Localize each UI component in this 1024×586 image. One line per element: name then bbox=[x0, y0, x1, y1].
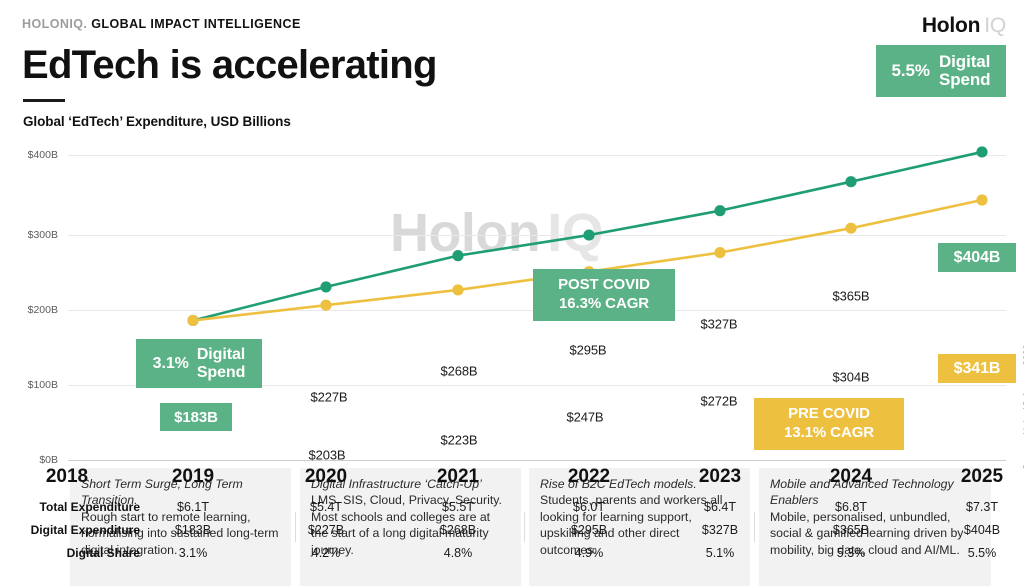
digital-spend-top-label: Digital Spend bbox=[939, 53, 991, 90]
table-year-header-2024: 2024 bbox=[830, 466, 872, 488]
digital-spend-top-label-line2: Spend bbox=[939, 70, 991, 89]
post-covid-line1: POST COVID bbox=[558, 276, 650, 295]
table-year-header-2023: 2023 bbox=[699, 466, 741, 488]
data-point-2022 bbox=[714, 247, 725, 258]
point-label-yellow-2021: $247B bbox=[567, 410, 604, 425]
table-cell: $365B bbox=[833, 523, 869, 537]
end-value-badge-yellow: $341B bbox=[938, 354, 1016, 383]
digital-spend-left-label-line2: Spend bbox=[197, 364, 246, 381]
digital-spend-left-percent: 3.1% bbox=[153, 355, 189, 373]
table-cell: $7.3T bbox=[966, 500, 998, 514]
point-label-green-2023: $365B bbox=[833, 289, 870, 304]
data-point-2022 bbox=[714, 205, 725, 216]
page-title: EdTech is accelerating bbox=[22, 44, 437, 86]
table-cell: 4.9% bbox=[575, 546, 604, 560]
digital-spend-badge-top: 5.5% Digital Spend bbox=[876, 45, 1006, 97]
eyebrow-brand: HOLONIQ. bbox=[22, 17, 87, 31]
data-point-2019 bbox=[320, 281, 331, 292]
data-point-2023 bbox=[845, 176, 856, 187]
table-row-label: Total Expenditure bbox=[0, 500, 140, 514]
logo-iq-text: IQ bbox=[984, 14, 1006, 37]
digital-spend-top-label-line1: Digital bbox=[939, 52, 990, 71]
pre-covid-line2: 13.1% CAGR bbox=[784, 424, 874, 443]
data-point-2023 bbox=[845, 223, 856, 234]
digital-spend-badge-left: 3.1% Digital Spend bbox=[136, 339, 262, 388]
table-year-header-2018: 2018 bbox=[46, 466, 88, 488]
table-cell: $227B bbox=[308, 523, 344, 537]
data-point-2019 bbox=[320, 300, 331, 311]
pre-covid-cagr-badge: PRE COVID 13.1% CAGR bbox=[754, 398, 904, 450]
point-label-yellow-2020: $223B bbox=[441, 433, 478, 448]
eyebrow-branding: HOLONIQ. GLOBAL IMPACT INTELLIGENCE bbox=[22, 17, 301, 31]
post-covid-cagr-badge: POST COVID 16.3% CAGR bbox=[533, 269, 675, 321]
data-point-2018 bbox=[187, 315, 198, 326]
table-cell: $5.4T bbox=[310, 500, 342, 514]
point-label-green-2022: $327B bbox=[701, 317, 738, 332]
start-value-badge: $183B bbox=[160, 403, 232, 431]
logo-holon-text: Holon bbox=[922, 14, 980, 37]
holoniq-logo: HolonIQ bbox=[922, 14, 1006, 38]
table-year-header-2022: 2022 bbox=[568, 466, 610, 488]
table-cell: $6.8T bbox=[835, 500, 867, 514]
table-row-label: Digital Expenditure bbox=[0, 523, 140, 537]
table-year-header-2019: 2019 bbox=[172, 466, 214, 488]
chart-area: HolonIQ $400B $300B $200B $100B $0B $227… bbox=[0, 130, 1024, 470]
pre-covid-line1: PRE COVID bbox=[788, 405, 870, 424]
digital-spend-left-label-line1: Digital bbox=[197, 346, 245, 363]
table-cell: $183B bbox=[175, 523, 211, 537]
point-label-green-2020: $268B bbox=[441, 364, 478, 379]
end-value-badge-green: $404B bbox=[938, 243, 1016, 272]
table-cell: $5.5T bbox=[442, 500, 474, 514]
table-cell: 4.8% bbox=[444, 546, 473, 560]
table-cell: $6.4T bbox=[704, 500, 736, 514]
table-cell: 5.5% bbox=[968, 546, 997, 560]
post-covid-line2: 16.3% CAGR bbox=[559, 295, 649, 314]
table-cell: $6.1T bbox=[177, 500, 209, 514]
data-point-2020 bbox=[452, 284, 463, 295]
point-label-green-2021: $295B bbox=[570, 343, 607, 358]
point-label-yellow-2023: $304B bbox=[833, 370, 870, 385]
table-cell: $327B bbox=[702, 523, 738, 537]
table-cell: $404B bbox=[964, 523, 1000, 537]
data-point-2021 bbox=[583, 229, 594, 240]
digital-spend-left-label: Digital Spend bbox=[197, 346, 246, 381]
data-point-2020 bbox=[452, 250, 463, 261]
data-point-2024 bbox=[976, 194, 987, 205]
chart-subtitle: Global ‘EdTech’ Expenditure, USD Billion… bbox=[23, 114, 291, 129]
table-year-header-2020: 2020 bbox=[305, 466, 347, 488]
data-table: 20182019202020212022202320242025Total Ex… bbox=[0, 466, 1024, 564]
table-year-header-2025: 2025 bbox=[961, 466, 1003, 488]
table-cell: $295B bbox=[571, 523, 607, 537]
table-cell: $268B bbox=[440, 523, 476, 537]
title-divider bbox=[23, 99, 65, 102]
table-cell: 5.3% bbox=[837, 546, 866, 560]
table-row-label: Digital Share bbox=[0, 546, 140, 560]
digital-spend-top-percent: 5.5% bbox=[892, 61, 930, 81]
table-cell: 4.2% bbox=[312, 546, 341, 560]
table-year-header-2021: 2021 bbox=[437, 466, 479, 488]
point-label-green-2019: $227B bbox=[311, 390, 348, 405]
point-label-yellow-2019: $203B bbox=[309, 448, 346, 463]
table-cell: 3.1% bbox=[179, 546, 208, 560]
data-point-2024 bbox=[976, 146, 987, 157]
table-cell: $6.0T bbox=[573, 500, 605, 514]
eyebrow-tagline: GLOBAL IMPACT INTELLIGENCE bbox=[91, 17, 301, 31]
point-label-yellow-2022: $272B bbox=[701, 394, 738, 409]
table-cell: 5.1% bbox=[706, 546, 735, 560]
